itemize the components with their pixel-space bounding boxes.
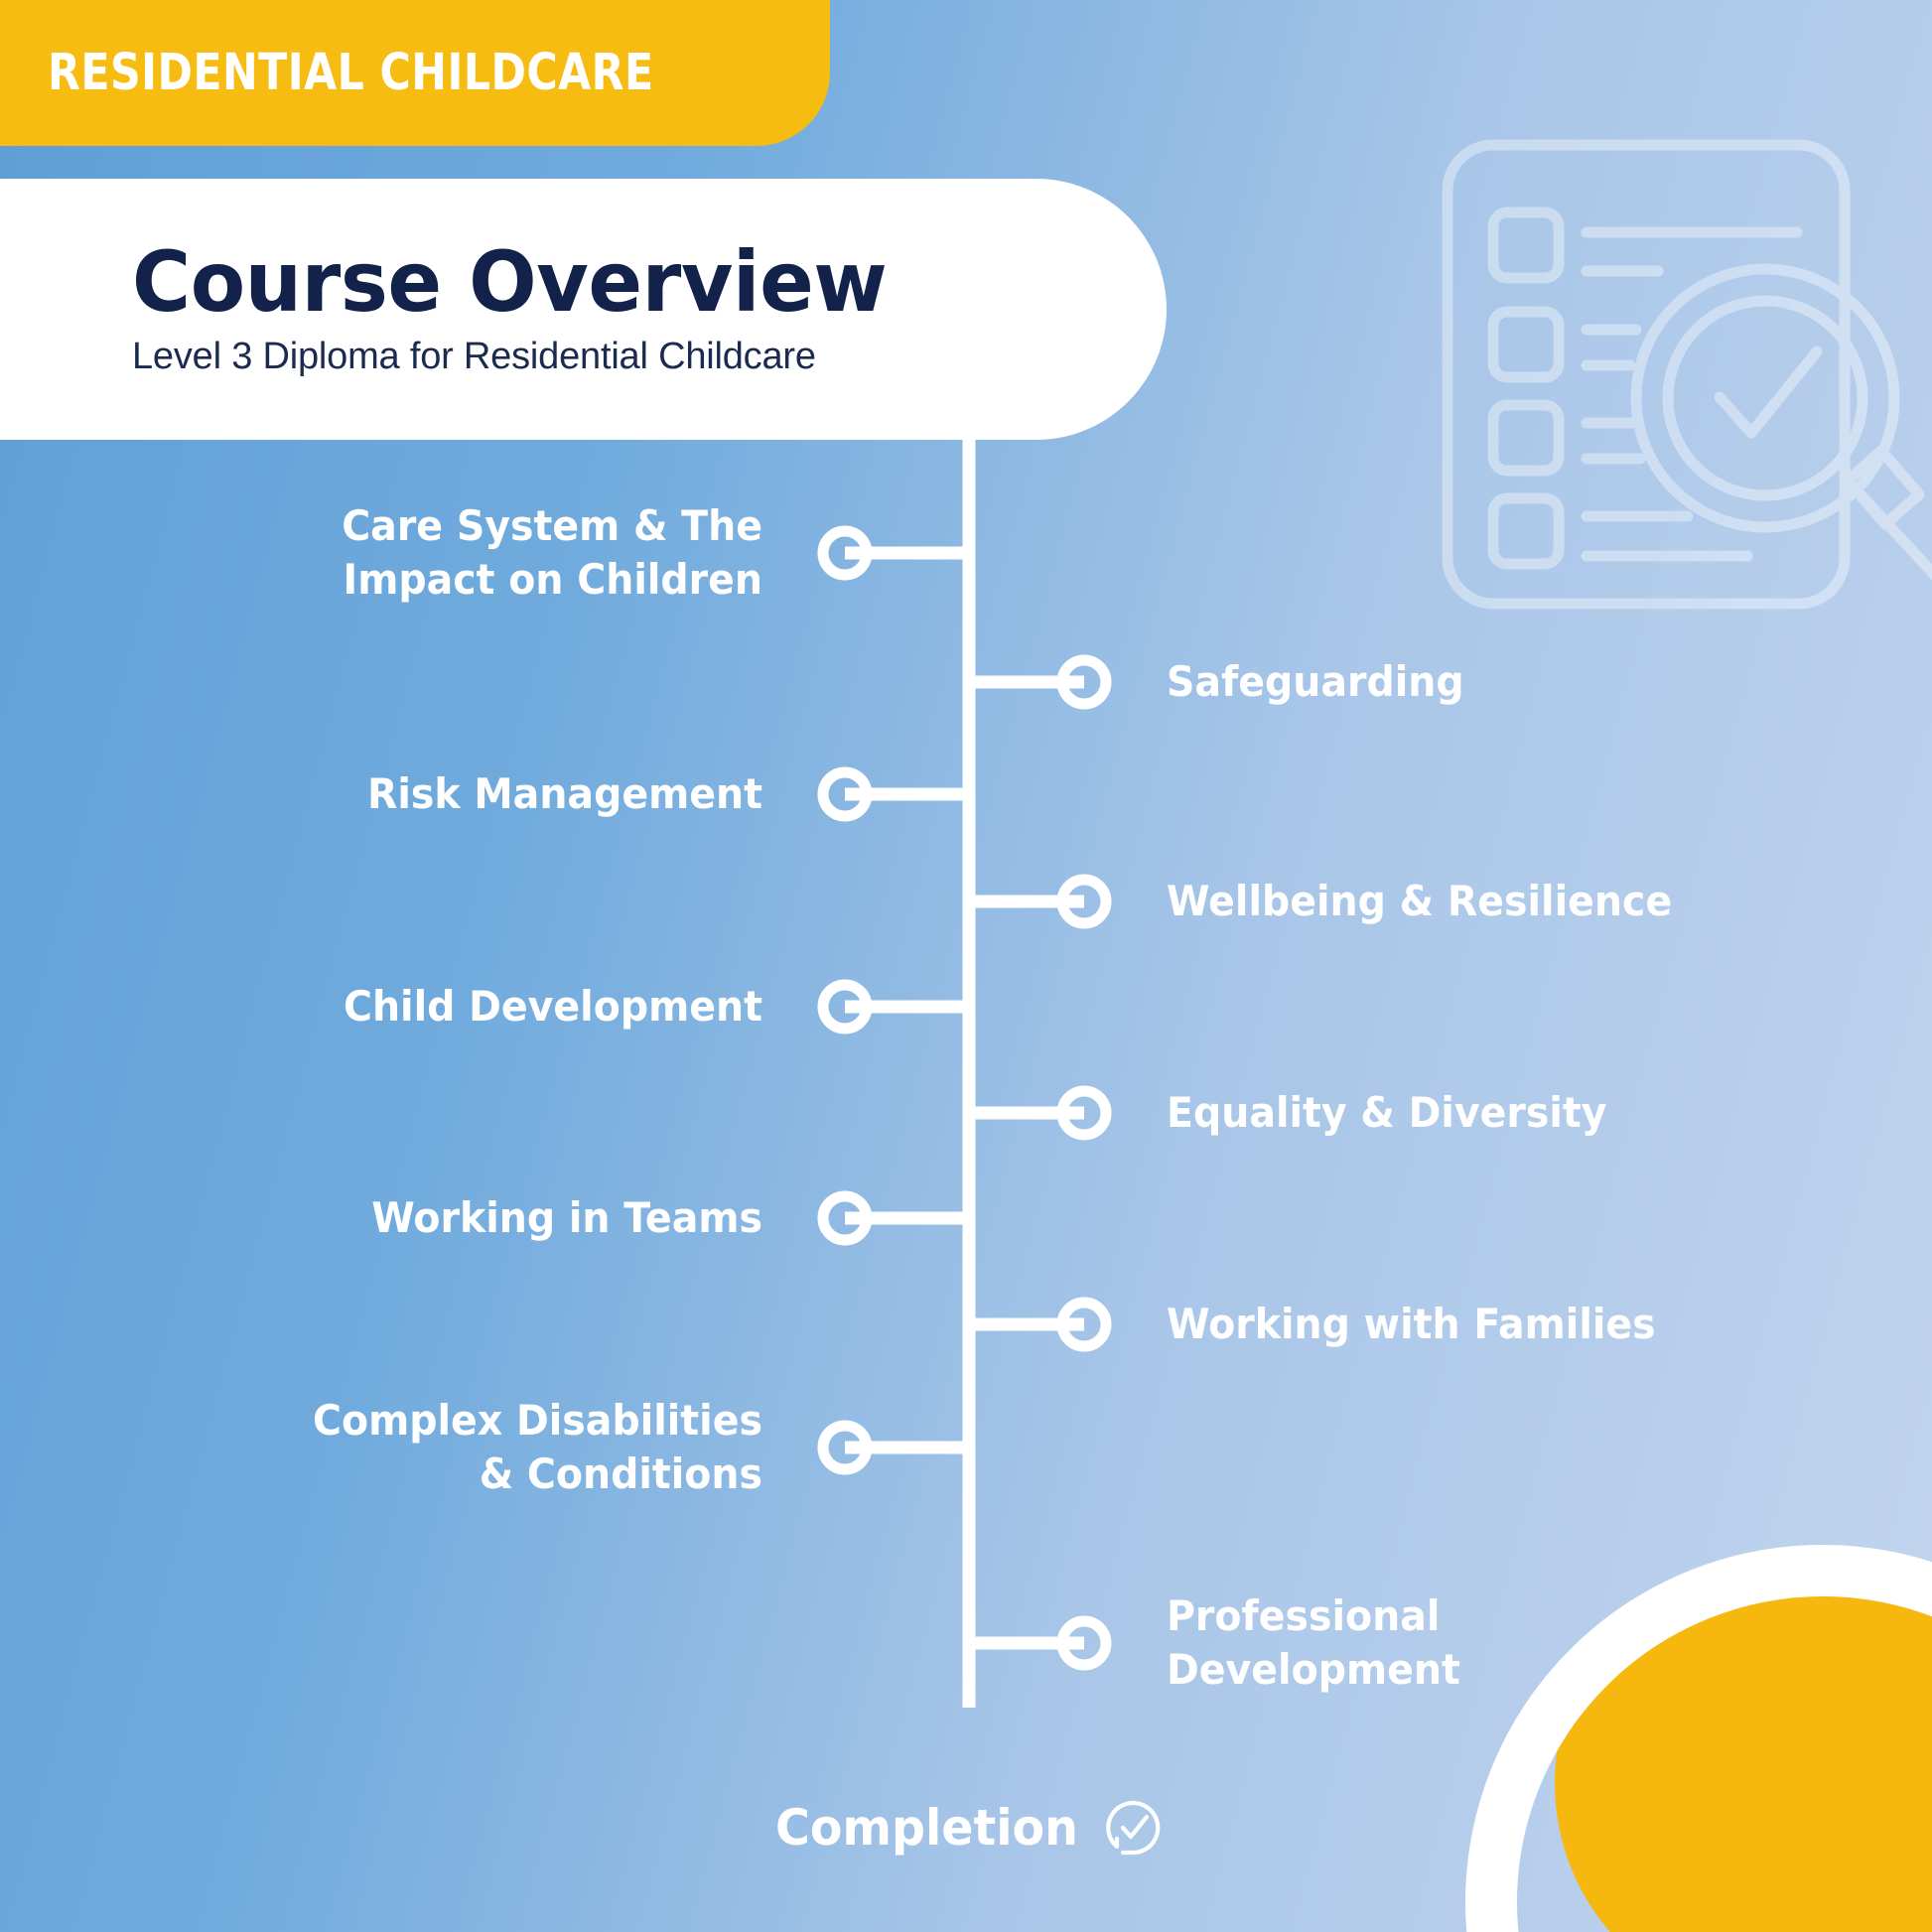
page-title: Course Overview (132, 240, 1125, 326)
page-subtitle: Level 3 Diploma for Residential Childcar… (132, 336, 1167, 378)
completion-row: Completion (0, 1797, 1932, 1859)
completion-label: Completion (775, 1799, 1078, 1857)
poster-canvas: RESIDENTIAL CHILDCARE Course Overview Le… (0, 0, 1932, 1932)
category-badge: RESIDENTIAL CHILDCARE (0, 0, 830, 146)
title-card: Course Overview Level 3 Diploma for Resi… (0, 179, 1167, 440)
category-badge-label: RESIDENTIAL CHILDCARE (48, 44, 654, 102)
circle-check-icon (1103, 1797, 1165, 1859)
